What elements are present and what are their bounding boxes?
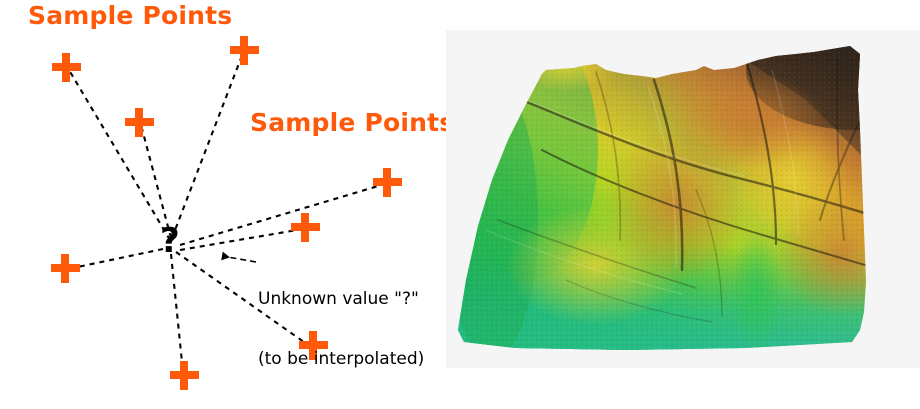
connector-to-upper-left: [69, 70, 170, 240]
sample-points-label-right: Sample Points: [250, 110, 454, 135]
connector-to-top-right: [172, 53, 243, 238]
unknown-value-annotation-line2: (to be interpolated): [258, 349, 424, 369]
terrain-surface-render: [446, 30, 920, 368]
sample-point-left: [51, 254, 80, 283]
sample-point-right-near: [291, 213, 320, 242]
sample-point-upper-mid: [125, 108, 154, 137]
terrain-pixel-noise: [446, 30, 920, 368]
connector-to-right-far: [180, 184, 385, 245]
connector-to-right-near: [180, 229, 303, 250]
sample-point-top-right: [230, 36, 259, 65]
sample-points-label-top: Sample Points: [28, 3, 232, 28]
annotation-arrow: [222, 256, 256, 262]
sample-point-bottom: [170, 361, 199, 390]
interpolation-diagram-panel: ? Sample Points Sample Points Unknown va…: [0, 0, 446, 400]
figure-root: ? Sample Points Sample Points Unknown va…: [0, 0, 920, 400]
connector-to-bottom: [171, 254, 183, 372]
sample-point-upper-left: [52, 53, 81, 82]
unknown-value-annotation-line1: Unknown value "?": [258, 289, 424, 309]
terrain-panel: [446, 30, 920, 368]
annotation-arrow-line: [222, 256, 256, 262]
sample-point-right-far: [373, 168, 402, 197]
terrain-body: [446, 30, 920, 368]
unknown-value-annotation: Unknown value "?" (to be interpolated): [258, 249, 424, 409]
connector-to-left: [68, 249, 163, 269]
unknown-value-marker: ?: [160, 221, 180, 261]
